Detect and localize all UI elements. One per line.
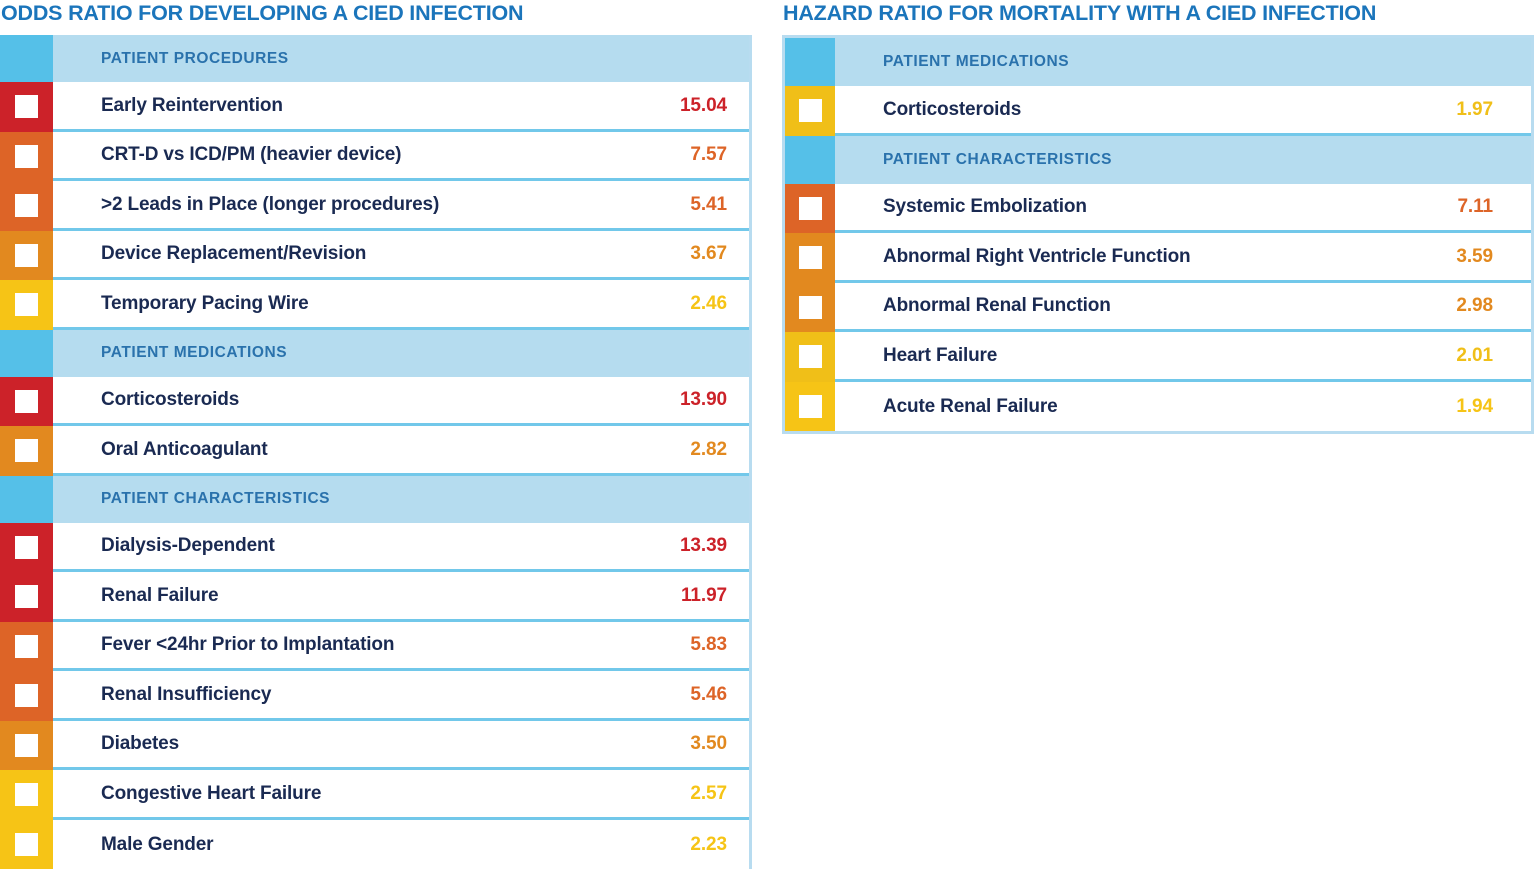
risk-factor-row[interactable]: Temporary Pacing Wire2.46 [0, 280, 749, 330]
risk-factor-row[interactable]: Device Replacement/Revision3.67 [0, 231, 749, 281]
risk-factor-body: Temporary Pacing Wire2.46 [53, 280, 749, 330]
category-header-body: PATIENT MEDICATIONS [835, 38, 1531, 86]
risk-factor-label: Corticosteroids [883, 100, 1021, 119]
swatch-square-icon [15, 783, 38, 806]
risk-factor-body: Acute Renal Failure1.94 [835, 382, 1531, 432]
swatch-square-icon [15, 684, 38, 707]
risk-level-swatch [0, 820, 53, 870]
swatch-square-icon [15, 833, 38, 856]
risk-factor-body: Abnormal Right Ventricle Function3.59 [835, 233, 1531, 283]
risk-factor-row[interactable]: Early Reintervention15.04 [0, 82, 749, 132]
swatch-square-icon [799, 246, 822, 269]
swatch-square-icon [15, 536, 38, 559]
risk-factor-body: Congestive Heart Failure2.57 [53, 770, 749, 820]
category-header-row: PATIENT PROCEDURES [0, 35, 749, 82]
swatch-square-icon [799, 99, 822, 122]
risk-factor-row[interactable]: CRT-D vs ICD/PM (heavier device)7.57 [0, 132, 749, 182]
risk-factor-value: 5.83 [690, 635, 727, 654]
category-header-body: PATIENT CHARACTERISTICS [53, 476, 749, 523]
risk-factor-body: CRT-D vs ICD/PM (heavier device)7.57 [53, 132, 749, 182]
risk-factor-value: 2.98 [1456, 296, 1493, 315]
risk-factor-label: Male Gender [101, 835, 213, 854]
risk-factor-label: Heart Failure [883, 346, 997, 365]
category-label: PATIENT PROCEDURES [101, 51, 289, 67]
risk-factor-value: 5.46 [690, 685, 727, 704]
risk-factor-row[interactable]: Congestive Heart Failure2.57 [0, 770, 749, 820]
swatch-square-icon [15, 244, 38, 267]
risk-level-swatch [0, 572, 53, 622]
risk-level-swatch [785, 382, 835, 432]
swatch-square-icon [15, 95, 38, 118]
risk-level-swatch [785, 283, 835, 333]
risk-factor-row[interactable]: Heart Failure2.01 [785, 332, 1531, 382]
category-header-row: PATIENT MEDICATIONS [785, 38, 1531, 86]
risk-factor-label: Device Replacement/Revision [101, 244, 366, 263]
risk-factor-row[interactable]: Systemic Embolization7.11 [785, 184, 1531, 234]
risk-level-swatch [0, 280, 53, 330]
infographic-canvas: ODDS RATIO FOR DEVELOPING A CIED INFECTI… [0, 0, 1536, 876]
category-header-row: PATIENT CHARACTERISTICS [0, 476, 749, 523]
risk-factor-value: 3.67 [690, 244, 727, 263]
risk-factor-body: Diabetes3.50 [53, 721, 749, 771]
risk-level-swatch [0, 181, 53, 231]
risk-factor-body: >2 Leads in Place (longer procedures)5.4… [53, 181, 749, 231]
risk-level-swatch [0, 770, 53, 820]
swatch-square-icon [15, 635, 38, 658]
risk-level-swatch [0, 671, 53, 721]
category-swatch [0, 35, 53, 82]
risk-factor-value: 3.59 [1456, 247, 1493, 266]
risk-factor-row[interactable]: Renal Failure11.97 [0, 572, 749, 622]
risk-factor-row[interactable]: Corticosteroids13.90 [0, 377, 749, 427]
risk-factor-label: Early Reintervention [101, 96, 283, 115]
risk-factor-value: 3.50 [690, 734, 727, 753]
category-header-row: PATIENT MEDICATIONS [0, 330, 749, 377]
category-header-body: PATIENT CHARACTERISTICS [835, 136, 1531, 184]
swatch-square-icon [799, 395, 822, 418]
swatch-square-icon [15, 293, 38, 316]
risk-factor-value: 7.11 [1457, 197, 1493, 216]
panel-title-hazard-ratio: HAZARD RATIO FOR MORTALITY WITH A CIED I… [782, 0, 1534, 26]
risk-level-swatch [785, 332, 835, 382]
risk-factor-value: 2.23 [690, 835, 727, 854]
risk-factor-body: Male Gender2.23 [53, 820, 749, 870]
risk-factor-value: 1.94 [1456, 397, 1493, 416]
category-swatch [785, 136, 835, 184]
risk-factor-body: Corticosteroids1.97 [835, 86, 1531, 136]
risk-factor-body: Early Reintervention15.04 [53, 82, 749, 132]
risk-factor-row[interactable]: Abnormal Right Ventricle Function3.59 [785, 233, 1531, 283]
risk-level-swatch [0, 523, 53, 573]
risk-factor-body: Fever <24hr Prior to Implantation5.83 [53, 622, 749, 672]
swatch-square-icon [15, 439, 38, 462]
risk-level-swatch [0, 132, 53, 182]
swatch-square-icon [15, 390, 38, 413]
category-header-body: PATIENT MEDICATIONS [53, 330, 749, 377]
risk-factor-row[interactable]: Male Gender2.23 [0, 820, 749, 870]
risk-factor-label: Renal Insufficiency [101, 685, 271, 704]
risk-level-swatch [0, 231, 53, 281]
risk-level-swatch [0, 622, 53, 672]
risk-factor-row[interactable]: Acute Renal Failure1.94 [785, 382, 1531, 432]
risk-level-swatch [785, 184, 835, 234]
category-label: PATIENT MEDICATIONS [101, 345, 287, 361]
risk-factor-label: Corticosteroids [101, 390, 239, 409]
risk-factor-value: 7.57 [690, 145, 727, 164]
category-header-row: PATIENT CHARACTERISTICS [785, 136, 1531, 184]
panel-title-odds-ratio: ODDS RATIO FOR DEVELOPING A CIED INFECTI… [0, 0, 752, 26]
risk-factor-value: 13.39 [680, 536, 727, 555]
risk-factor-row[interactable]: Fever <24hr Prior to Implantation5.83 [0, 622, 749, 672]
risk-factor-label: Congestive Heart Failure [101, 784, 321, 803]
swatch-square-icon [799, 345, 822, 368]
risk-level-swatch [785, 86, 835, 136]
risk-factor-row[interactable]: Dialysis-Dependent13.39 [0, 523, 749, 573]
risk-factor-body: Oral Anticoagulant2.82 [53, 426, 749, 476]
panel-odds-ratio: ODDS RATIO FOR DEVELOPING A CIED INFECTI… [0, 0, 752, 869]
risk-factor-label: Diabetes [101, 734, 179, 753]
category-swatch [785, 38, 835, 86]
panel-hazard-ratio: HAZARD RATIO FOR MORTALITY WITH A CIED I… [782, 0, 1534, 434]
swatch-square-icon [15, 734, 38, 757]
risk-factor-body: Abnormal Renal Function2.98 [835, 283, 1531, 333]
risk-factor-body: Device Replacement/Revision3.67 [53, 231, 749, 281]
risk-factor-value: 15.04 [680, 96, 727, 115]
risk-factor-label: Oral Anticoagulant [101, 440, 268, 459]
risk-factor-body: Renal Insufficiency5.46 [53, 671, 749, 721]
risk-factor-value: 2.57 [690, 784, 727, 803]
hazard-ratio-table: PATIENT MEDICATIONSCorticosteroids1.97PA… [782, 35, 1534, 434]
risk-factor-row[interactable]: >2 Leads in Place (longer procedures)5.4… [0, 181, 749, 231]
risk-factor-row[interactable]: Renal Insufficiency5.46 [0, 671, 749, 721]
risk-factor-value: 2.82 [690, 440, 727, 459]
swatch-square-icon [15, 585, 38, 608]
risk-level-swatch [0, 721, 53, 771]
risk-factor-label: Renal Failure [101, 586, 218, 605]
risk-level-swatch [0, 377, 53, 427]
risk-level-swatch [785, 233, 835, 283]
risk-factor-label: >2 Leads in Place (longer procedures) [101, 195, 439, 214]
swatch-square-icon [799, 197, 822, 220]
swatch-square-icon [799, 296, 822, 319]
risk-factor-value: 2.01 [1456, 346, 1493, 365]
risk-factor-label: Systemic Embolization [883, 197, 1087, 216]
risk-factor-body: Systemic Embolization7.11 [835, 184, 1531, 234]
risk-factor-value: 2.46 [690, 294, 727, 313]
category-swatch [0, 330, 53, 377]
category-label: PATIENT CHARACTERISTICS [101, 491, 330, 507]
risk-factor-value: 13.90 [680, 390, 727, 409]
category-label: PATIENT MEDICATIONS [883, 54, 1069, 70]
risk-factor-label: Temporary Pacing Wire [101, 294, 309, 313]
risk-factor-label: CRT-D vs ICD/PM (heavier device) [101, 145, 401, 164]
risk-level-swatch [0, 426, 53, 476]
risk-factor-body: Dialysis-Dependent13.39 [53, 523, 749, 573]
risk-factor-value: 1.97 [1456, 100, 1493, 119]
risk-factor-label: Abnormal Renal Function [883, 296, 1111, 315]
risk-factor-label: Acute Renal Failure [883, 397, 1058, 416]
risk-level-swatch [0, 82, 53, 132]
category-swatch [0, 476, 53, 523]
risk-factor-label: Abnormal Right Ventricle Function [883, 247, 1191, 266]
odds-ratio-table: PATIENT PROCEDURESEarly Reintervention15… [0, 35, 752, 869]
risk-factor-row[interactable]: Corticosteroids1.97 [785, 86, 1531, 136]
risk-factor-row[interactable]: Abnormal Renal Function2.98 [785, 283, 1531, 333]
risk-factor-body: Renal Failure11.97 [53, 572, 749, 622]
risk-factor-label: Fever <24hr Prior to Implantation [101, 635, 394, 654]
risk-factor-value: 5.41 [690, 195, 727, 214]
category-header-body: PATIENT PROCEDURES [53, 35, 749, 82]
swatch-square-icon [15, 194, 38, 217]
risk-factor-body: Corticosteroids13.90 [53, 377, 749, 427]
risk-factor-row[interactable]: Diabetes3.50 [0, 721, 749, 771]
risk-factor-value: 11.97 [681, 586, 727, 605]
swatch-square-icon [15, 145, 38, 168]
risk-factor-row[interactable]: Oral Anticoagulant2.82 [0, 426, 749, 476]
risk-factor-label: Dialysis-Dependent [101, 536, 275, 555]
category-label: PATIENT CHARACTERISTICS [883, 152, 1112, 168]
risk-factor-body: Heart Failure2.01 [835, 332, 1531, 382]
